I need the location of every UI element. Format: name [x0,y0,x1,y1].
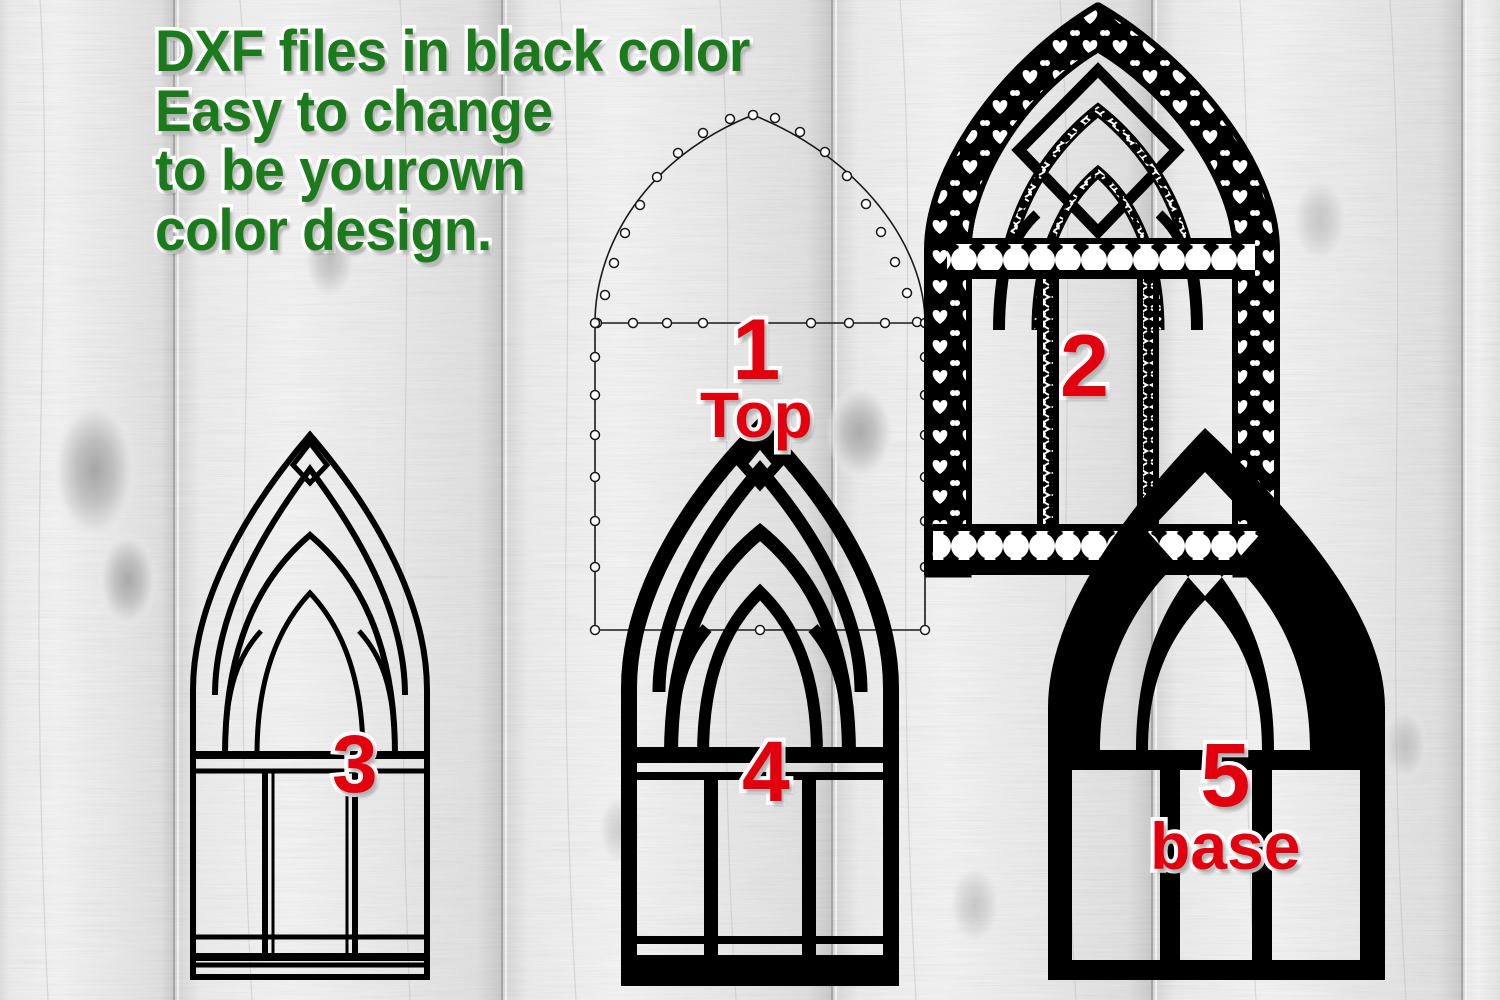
window-3-thin-line[interactable] [185,425,435,985]
poster-canvas: DXF files in black color Easy to change … [0,0,1500,1000]
window-1-label: 1 Top [700,228,813,528]
window-5-label: 5 base [1150,648,1300,963]
window-4-number: 4 [742,724,790,820]
window-4-label: 4 [742,650,790,813]
window-3-number: 3 [332,719,378,810]
window-2-label: 2 [1060,240,1109,407]
window-5-sublabel: base [1150,815,1300,878]
window-1-sublabel: Top [700,385,813,446]
window-2-number: 2 [1060,316,1109,415]
headline-text: DXF files in black color Easy to change … [155,22,763,261]
window-3-label: 3 [332,648,378,804]
